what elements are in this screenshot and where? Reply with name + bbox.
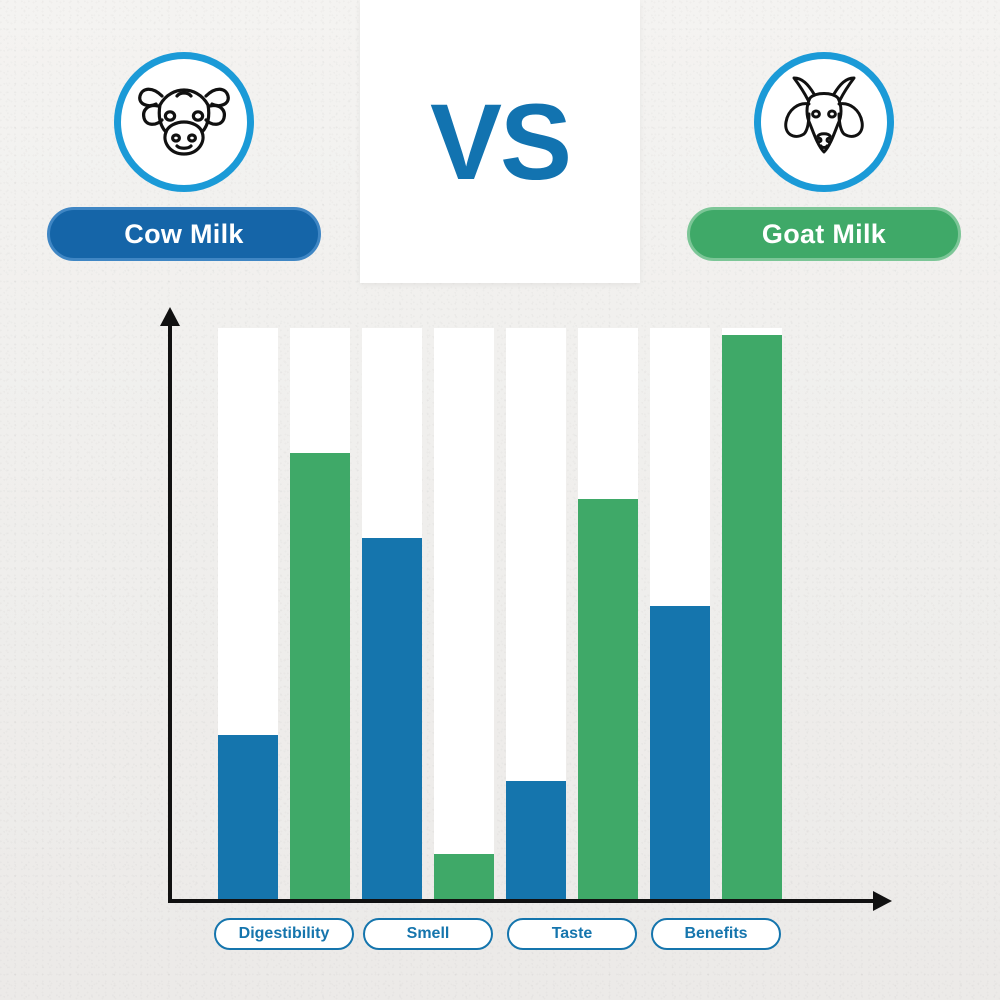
bar-digestibility-cow-milk bbox=[218, 735, 278, 899]
vs-card: VS bbox=[360, 0, 640, 283]
bar-digestibility-goat-milk bbox=[290, 453, 350, 899]
cow-milk-panel: Cow Milk bbox=[46, 52, 322, 261]
plot-area bbox=[172, 328, 872, 899]
goat-icon-badge bbox=[754, 52, 894, 192]
x-axis bbox=[168, 899, 874, 903]
bar-benefits-cow-milk bbox=[650, 606, 710, 899]
cow-head-icon bbox=[132, 72, 236, 173]
cow-milk-label-pill[interactable]: Cow Milk bbox=[47, 207, 321, 261]
bar-background-strip bbox=[434, 328, 494, 899]
bar-smell-cow-milk bbox=[362, 538, 422, 899]
x-axis-label-benefits: Benefits bbox=[651, 918, 781, 950]
cow-icon-badge bbox=[114, 52, 254, 192]
bar-taste-cow-milk bbox=[506, 781, 566, 899]
vs-label: VS bbox=[430, 88, 570, 196]
goat-head-icon bbox=[772, 72, 876, 173]
x-axis-label-taste: Taste bbox=[507, 918, 637, 950]
x-axis-label-smell: Smell bbox=[363, 918, 493, 950]
x-axis-label-digestibility: Digestibility bbox=[214, 918, 354, 950]
bar-smell-goat-milk bbox=[434, 854, 494, 899]
goat-milk-label-pill[interactable]: Goat Milk bbox=[687, 207, 961, 261]
bar-taste-goat-milk bbox=[578, 499, 638, 899]
bar-benefits-goat-milk bbox=[722, 335, 782, 899]
goat-milk-panel: Goat Milk bbox=[686, 52, 962, 261]
x-axis-labels: DigestibilitySmellTasteBenefits bbox=[0, 918, 1000, 958]
bar-chart: DigestibilitySmellTasteBenefits bbox=[0, 300, 1000, 1000]
